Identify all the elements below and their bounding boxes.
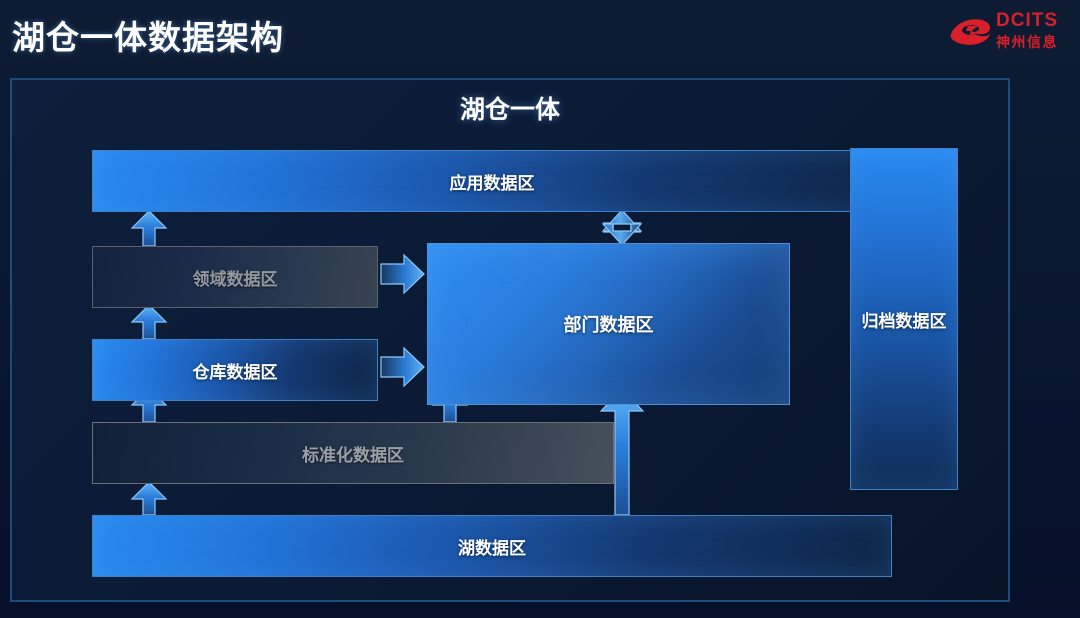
arrow-app-department-bidirectional [603, 210, 641, 245]
arrow-warehouse-to-domain [132, 305, 166, 339]
swirl-logo-icon [948, 14, 994, 48]
arrow-warehouse-to-department [381, 348, 424, 386]
logo-subtitle: 神州信息 [996, 32, 1058, 52]
page-title: 湖仓一体数据架构 [12, 11, 284, 59]
arrow-domain-to-department [381, 255, 424, 293]
zone-department-data[interactable]: 部门数据区 [427, 243, 790, 405]
zone-archive-data[interactable]: 归档数据区 [850, 148, 958, 490]
zone-lake-data[interactable]: 湖数据区 [92, 515, 892, 577]
diagram-panel: 湖仓一体 [10, 78, 1010, 602]
zone-application-data[interactable]: 应用数据区 [92, 150, 892, 212]
zone-domain-data[interactable]: 领域数据区 [92, 246, 378, 308]
page-header: 湖仓一体数据架构 DCITS 神州信息 [0, 0, 1080, 62]
zone-standardized-data[interactable]: 标准化数据区 [92, 422, 614, 484]
diagram-title: 湖仓一体 [12, 90, 1008, 126]
arrow-lake-to-standard [132, 482, 166, 515]
logo-name: DCITS [996, 10, 1058, 32]
brand-logo: DCITS 神州信息 [948, 8, 1066, 54]
zone-warehouse-data[interactable]: 仓库数据区 [92, 339, 378, 401]
arrow-domain-to-app [132, 211, 166, 246]
